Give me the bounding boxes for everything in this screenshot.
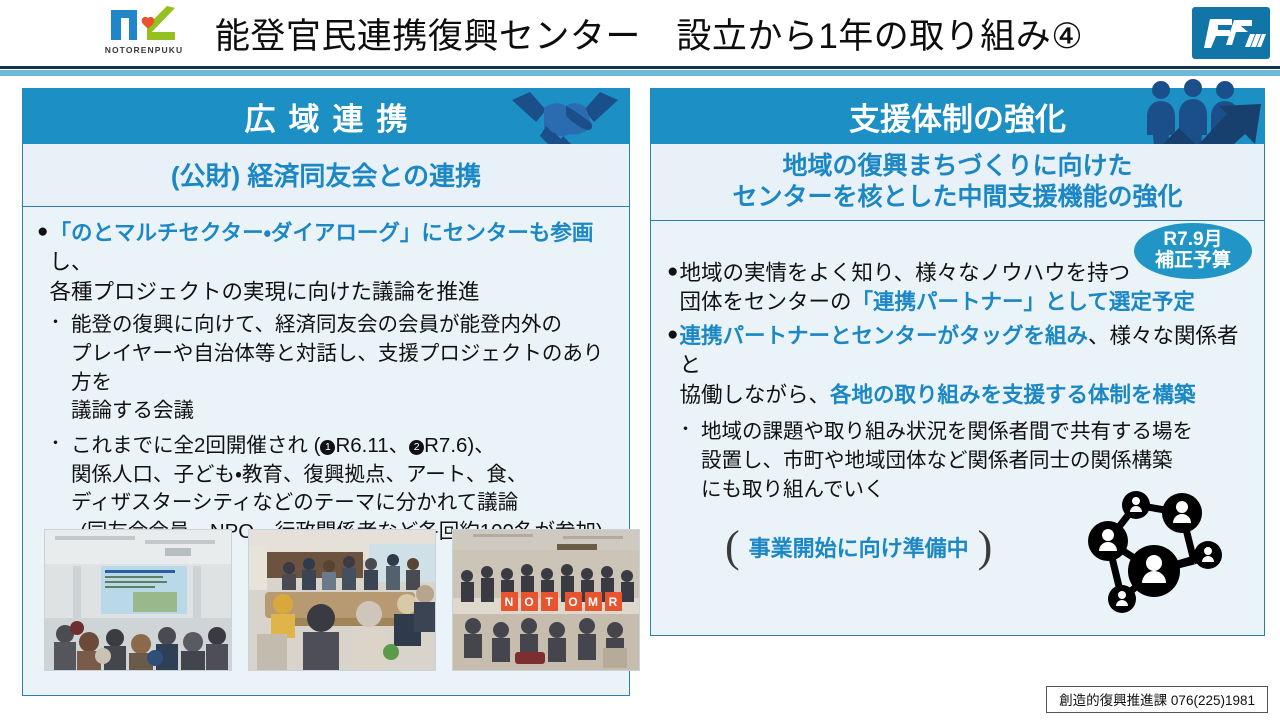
list-item: ・ 能登の復興に向けて、経済同友会の会員が能登内外の プレイヤーや自治体等と対話… bbox=[37, 311, 615, 426]
right-panel-content: R7.9月 補正予算 ● 地域の実情をよく知り、様々なノウハウを持つ 団体をセン… bbox=[651, 221, 1264, 504]
photo-gallery: NOT OMR bbox=[44, 529, 640, 671]
ishikawa-prefecture-logo bbox=[1192, 7, 1270, 59]
noto-renpuku-logo: NOTORENPUKU bbox=[98, 4, 190, 62]
budget-badge-line-2: 補正予算 bbox=[1155, 251, 1231, 272]
left-panel-heading: 広域連携 bbox=[232, 94, 421, 139]
right-panel-header: 支援体制の強化 bbox=[650, 88, 1265, 144]
session-1-date: R6.11、 bbox=[335, 434, 409, 457]
svg-text:M: M bbox=[588, 595, 598, 609]
bullet-line-3: 議論する会議 bbox=[71, 399, 194, 422]
bullet-marker: ● bbox=[37, 219, 48, 245]
bracket-right-icon: ) bbox=[978, 530, 993, 563]
photo-group-noto-mori: NOT OMR bbox=[452, 529, 640, 671]
photo-roundtable-discussion-image bbox=[249, 530, 435, 670]
svg-text:R: R bbox=[609, 595, 618, 609]
slide-header: NOTORENPUKU 能登官民連携復興センター 設立から1年の取り組み④ bbox=[0, 0, 1280, 66]
bullet-line-2-prefix: 団体をセンターの bbox=[679, 290, 851, 314]
left-panel-body: (公財) 経済同友会との連携 ● 「のとマルチセクター・ダイアローグ」にセンター… bbox=[22, 144, 630, 696]
svg-text:N: N bbox=[505, 595, 514, 609]
left-sub-heading: (公財) 経済同友会との連携 bbox=[23, 144, 629, 207]
prefecture-mark-icon bbox=[1192, 7, 1270, 59]
bullet-marker: ● bbox=[667, 259, 678, 285]
highlighted-text: 「連携パートナー」として選定予定 bbox=[852, 290, 1195, 314]
bullet-line-3: ディザスターシティなどのテーマに分かれて議論 bbox=[71, 491, 518, 514]
bullet-marker: ・ bbox=[47, 432, 64, 456]
header-rule-dark bbox=[0, 66, 1280, 69]
bullet-line-1: 地域の実情をよく知り、様々なノウハウを持つ bbox=[679, 261, 1130, 285]
noto-renpuku-logo-mark bbox=[107, 4, 181, 46]
circled-number-1: 1 bbox=[320, 440, 335, 455]
budget-badge: R7.9月 補正予算 bbox=[1134, 223, 1252, 279]
logo-caption: NOTORENPUKU bbox=[105, 45, 184, 55]
photo-seminar-presentation-image bbox=[45, 530, 231, 670]
highlighted-text: 各地の取り組みを支援する体制を構築 bbox=[830, 383, 1196, 407]
svg-text:O: O bbox=[524, 595, 533, 609]
svg-text:T: T bbox=[545, 595, 553, 609]
bullet-line-3: にも取り組んでいく bbox=[701, 478, 884, 501]
bullet-body: 「のとマルチセクター・ダイアローグ」にセンターも参画し、 各種プロジェクトの実現… bbox=[49, 219, 615, 307]
logo-glyph-icon bbox=[107, 4, 181, 46]
bullet-line-2: プレイヤーや自治体等と対話し、支援プロジェクトのあり方を bbox=[71, 342, 603, 394]
status-chip: ( 事業開始に向け準備中 ) bbox=[725, 530, 992, 563]
right-panel-body: 地域の復興まちづくりに向けた センターを核とした中間支援機能の強化 R7.9月 … bbox=[650, 144, 1265, 636]
bullet-body: 地域の実情をよく知り、様々なノウハウを持つ 団体をセンターの「連携パートナー」と… bbox=[679, 259, 1194, 318]
left-panel-header: 広域連携 bbox=[22, 88, 630, 144]
bullet-line-2: 設置し、市町や地域団体など関係者同士の関係構築 bbox=[701, 449, 1173, 472]
panel-wide-area-cooperation: 広域連携 (公財) 経済同友会との連携 ● 「のとマルチセクター・ダイアローグ」… bbox=[22, 88, 630, 696]
session-2-date: R7.6)、 bbox=[424, 434, 495, 457]
right-panel-heading: 支援体制の強化 bbox=[849, 94, 1066, 139]
panel-support-system-strengthening: 支援体制の強化 地域の復興まちづくりに向けた センターを核とした中間支援機能の強… bbox=[650, 88, 1265, 636]
bullet-tail: し、 bbox=[49, 250, 92, 274]
list-item: ● 連携パートナーとセンターがタッグを組み、様々な関係者と 協働しながら、各地の… bbox=[667, 322, 1248, 410]
circled-number-2: 2 bbox=[409, 440, 424, 455]
people-network-icon bbox=[1078, 483, 1230, 623]
bracket-left-icon: ( bbox=[725, 530, 740, 563]
bullet-line-1: 能登の復興に向けて、経済同友会の会員が能登内外の bbox=[71, 313, 562, 336]
photo-seminar-presentation bbox=[44, 529, 232, 671]
footer-contact: 創造的復興推進課 076(225)1981 bbox=[1046, 686, 1268, 713]
bullet-line-1: 地域の課題や取り組み状況を関係者間で共有する場を bbox=[701, 420, 1193, 443]
highlighted-text: 連携パートナーとセンターがタッグを組み bbox=[679, 324, 1088, 348]
right-sub-heading: 地域の復興まちづくりに向けた センターを核とした中間支援機能の強化 bbox=[651, 144, 1264, 221]
bullet-body: 能登の復興に向けて、経済同友会の会員が能登内外の プレイヤーや自治体等と対話し、… bbox=[71, 311, 615, 426]
right-sub-heading-line-2: センターを核とした中間支援機能の強化 bbox=[651, 182, 1264, 213]
bullet-marker: ● bbox=[667, 322, 678, 348]
bullet-line-2: 関係人口、子ども・教育、復興拠点、アート、食、 bbox=[71, 463, 527, 486]
list-item: ● 「のとマルチセクター・ダイアローグ」にセンターも参画し、 各種プロジェクトの… bbox=[37, 219, 615, 307]
photo-group-noto-mori-image: NOT OMR bbox=[453, 530, 639, 670]
bullet-marker: ・ bbox=[677, 418, 694, 442]
highlighted-text: 「のとマルチセクター・ダイアローグ」にセンターも参画 bbox=[49, 221, 593, 245]
status-badge: 事業開始に向け準備中 bbox=[749, 531, 969, 563]
header-rule-light bbox=[0, 70, 1280, 76]
svg-text:O: O bbox=[568, 595, 577, 609]
page-title: 能登官民連携復興センター 設立から1年の取り組み④ bbox=[215, 8, 1083, 59]
bullet-marker: ・ bbox=[47, 311, 64, 335]
bullet-line-1-text: これまでに全2回開催され ( bbox=[71, 434, 320, 457]
photo-roundtable-discussion bbox=[248, 529, 436, 671]
bullet-line-1: これまでに全2回開催され (1R6.11、2R7.6)、 bbox=[71, 434, 495, 457]
budget-badge-line-1: R7.9月 bbox=[1163, 230, 1222, 251]
bullet-body: 連携パートナーとセンターがタッグを組み、様々な関係者と 協働しながら、各地の取り… bbox=[679, 322, 1248, 410]
bullet-line-2-prefix: 協働しながら、 bbox=[679, 383, 830, 407]
left-panel-content: ● 「のとマルチセクター・ダイアローグ」にセンターも参画し、 各種プロジェクトの… bbox=[23, 207, 629, 547]
right-sub-heading-line-1: 地域の復興まちづくりに向けた bbox=[651, 151, 1264, 182]
bullet-line-2: 各種プロジェクトの実現に向けた議論を推進 bbox=[49, 280, 479, 304]
